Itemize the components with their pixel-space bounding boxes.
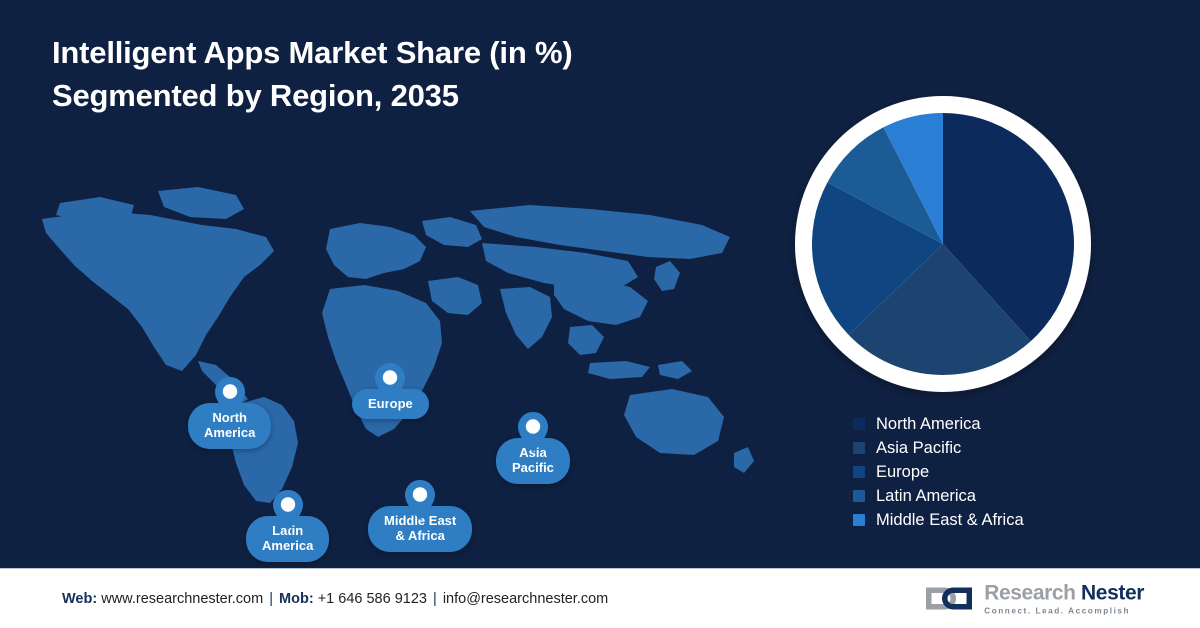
logo-tagline: Connect. Lead. Accomplish (984, 606, 1144, 615)
legend-label: North America (876, 416, 981, 433)
map-marker-asia-pacific[interactable]: Asia Pacific (496, 412, 570, 484)
footer-mob-label: Mob: (279, 591, 314, 607)
pie-slices[interactable] (812, 113, 1074, 375)
map-marker-north-america[interactable]: North America (188, 377, 271, 449)
footer-contact-text: Web: www.researchnester.com | Mob: +1 64… (62, 591, 608, 607)
title-line-1: Intelligent Apps Market Share (in %) (52, 35, 572, 70)
pie-chart-svg (764, 92, 1122, 404)
legend-label: Middle East & Africa (876, 512, 1024, 529)
legend-swatch (853, 514, 865, 526)
location-pin-icon (405, 480, 435, 520)
legend-item-north-america[interactable]: North America (853, 412, 1153, 436)
location-pin-icon (375, 363, 405, 403)
footer-web-label: Web: (62, 591, 97, 607)
legend-label: Asia Pacific (876, 440, 961, 457)
map-marker-europe[interactable]: Europe (352, 363, 429, 419)
legend-item-asia-pacific[interactable]: Asia Pacific (853, 436, 1153, 460)
footer-web-value[interactable]: www.researchnester.com (101, 591, 263, 607)
world-map-svg (30, 185, 760, 505)
legend-label: Latin America (876, 488, 976, 505)
world-map: North America Europe Asia Pacific Latin … (30, 185, 760, 505)
logo-word-nester: Nester (1081, 581, 1144, 604)
footer-separator-2: | (431, 591, 439, 607)
interlocking-links-logo-icon (923, 584, 975, 614)
logo-word-research: Research (984, 581, 1081, 604)
map-marker-middle-east-africa[interactable]: Middle East & Africa (368, 480, 472, 552)
logo-wordmark: Research Nester Connect. Lead. Accomplis… (984, 582, 1144, 615)
logo-title: Research Nester (984, 582, 1144, 603)
map-landmasses (42, 187, 754, 503)
footer-mob-value[interactable]: +1 646 586 9123 (318, 591, 427, 607)
footer-bar: Web: www.researchnester.com | Mob: +1 64… (0, 568, 1200, 628)
map-marker-latin-america[interactable]: Latin America (246, 490, 329, 562)
footer-email-value[interactable]: info@researchnester.com (443, 591, 608, 607)
legend-item-middle-east-africa[interactable]: Middle East & Africa (853, 508, 1153, 532)
location-pin-icon (273, 490, 303, 530)
location-pin-icon (518, 412, 548, 452)
main-stage: Intelligent Apps Market Share (in %) Seg… (0, 0, 1200, 568)
research-nester-logo[interactable]: Research Nester Connect. Lead. Accomplis… (923, 582, 1144, 615)
pie-chart: 38.3% (764, 92, 1122, 404)
legend-label: Europe (876, 464, 929, 481)
legend-swatch (853, 418, 865, 430)
page-title: Intelligent Apps Market Share (in %) Seg… (52, 32, 692, 118)
legend-swatch (853, 442, 865, 454)
footer-separator-1: | (267, 591, 275, 607)
infographic-canvas: Intelligent Apps Market Share (in %) Seg… (0, 0, 1200, 628)
legend-item-latin-america[interactable]: Latin America (853, 484, 1153, 508)
legend-swatch (853, 466, 865, 478)
chart-legend: North AmericaAsia PacificEuropeLatin Ame… (853, 412, 1153, 532)
title-line-2: Segmented by Region, 2035 (52, 75, 692, 118)
legend-swatch (853, 490, 865, 502)
location-pin-icon (215, 377, 245, 417)
legend-item-europe[interactable]: Europe (853, 460, 1153, 484)
